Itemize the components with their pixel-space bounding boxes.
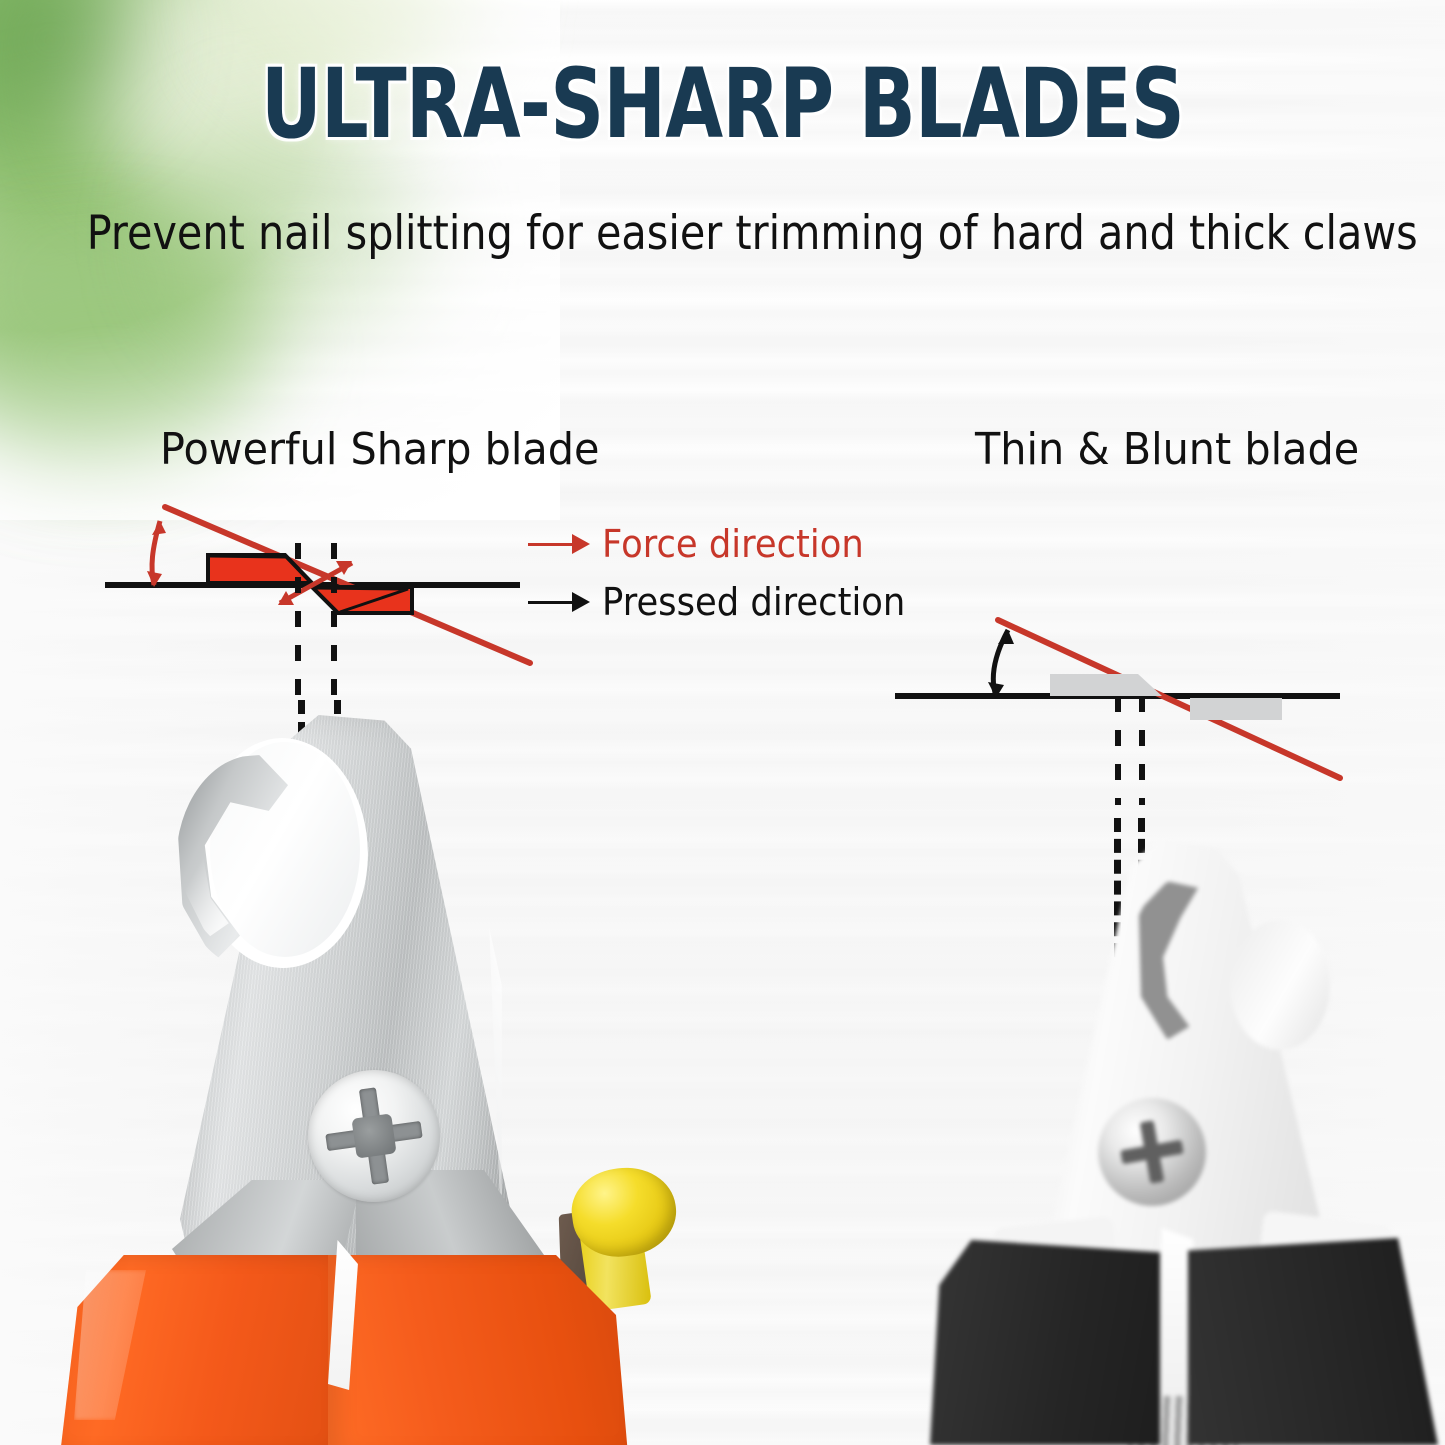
legend: Force direction Pressed direction (528, 518, 928, 634)
phillips-screw-icon (308, 1070, 440, 1202)
handle-left[interactable] (930, 1240, 1160, 1445)
blunt-blade-angle-diagram (890, 600, 1360, 820)
orange-nail-clipper (60, 700, 680, 1445)
blade-wedge-lower (312, 587, 412, 613)
handle-right[interactable] (328, 1255, 628, 1445)
legend-label-pressed: Pressed direction (602, 580, 905, 624)
page-title: ULTRA-SHARP BLADES (159, 48, 1286, 160)
clipper-head-bump (1230, 920, 1330, 1050)
column-heading-sharp: Powerful Sharp blade (160, 424, 599, 475)
sharp-blade-angle-diagram (100, 495, 570, 705)
page-subtitle: Prevent nail splitting for easier trimmi… (87, 206, 1359, 261)
round-screw-icon (1098, 1098, 1206, 1206)
blade-wedge-lower (1190, 698, 1282, 720)
legend-item-force: Force direction (528, 518, 928, 570)
black-nail-clipper (930, 830, 1430, 1445)
blade-wedge-upper (1050, 674, 1162, 696)
legend-label-force: Force direction (602, 522, 864, 566)
infographic-page: ULTRA-SHARP BLADES Prevent nail splittin… (0, 0, 1445, 1445)
column-heading-blunt: Thin & Blunt blade (975, 424, 1359, 475)
legend-item-pressed: Pressed direction (528, 576, 928, 628)
handle-right[interactable] (1188, 1238, 1438, 1445)
